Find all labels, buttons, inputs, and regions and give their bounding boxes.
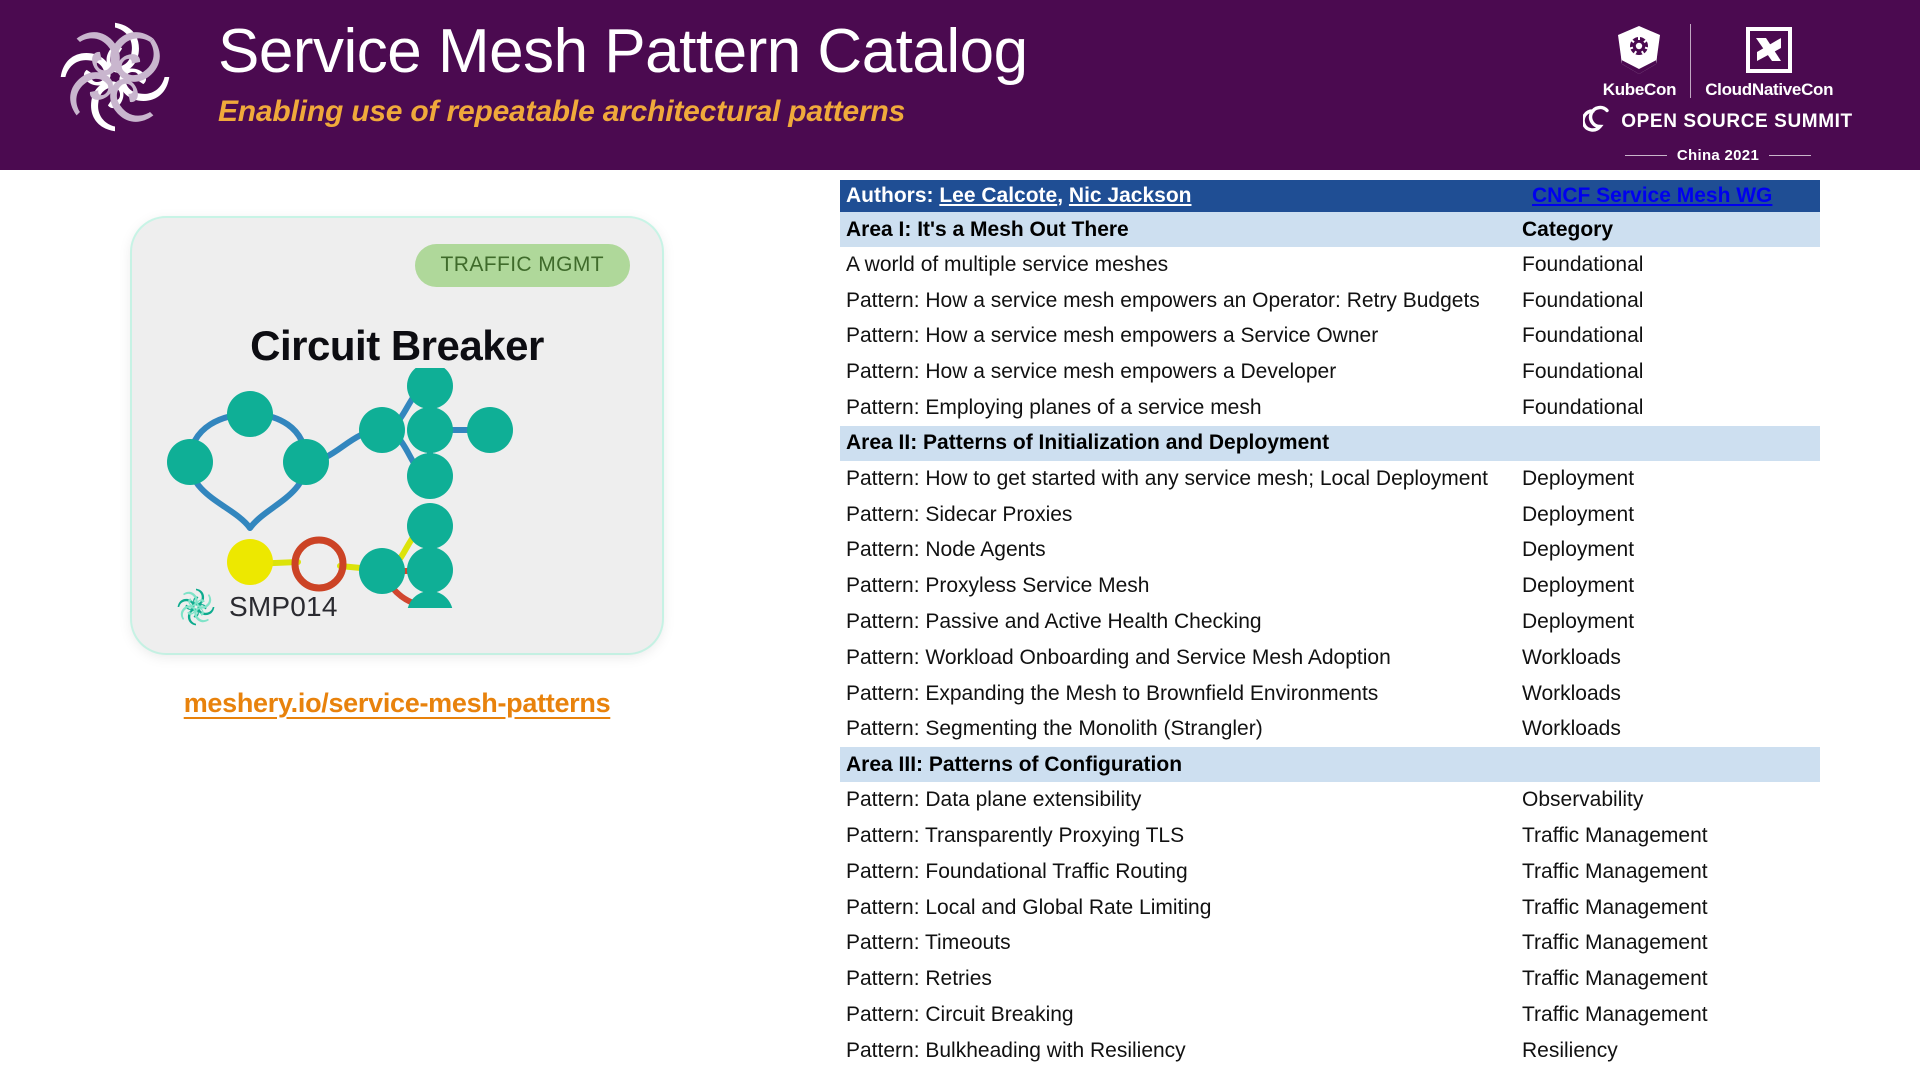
pattern-card-title: Circuit Breaker [132,322,662,370]
header-text-block: Service Mesh Pattern Catalog Enabling us… [218,12,1028,132]
authors-label: Authors: [846,184,934,207]
authors-separator: , [1057,184,1063,207]
meshery-patterns-link[interactable]: meshery.io/service-mesh-patterns [132,688,662,719]
table-row[interactable]: Pattern: Expanding the Mesh to Brownfiel… [840,676,1820,712]
pattern-category-cell: Workloads [1522,646,1820,670]
table-row[interactable]: Pattern: RetriesTraffic Management [840,961,1820,997]
year-rule-left [1625,155,1667,156]
circuit-breaker-ring [295,540,343,588]
pattern-name-cell: Pattern: Foundational Traffic Routing [840,860,1522,884]
page-subtitle: Enabling use of repeatable architectural… [218,92,1028,132]
table-row[interactable]: Pattern: How to get started with any ser… [840,461,1820,497]
table-row[interactable]: Pattern: Circuit BreakingTraffic Managem… [840,997,1820,1033]
pattern-name-cell: Pattern: Proxyless Service Mesh [840,574,1522,598]
pattern-category-cell: Deployment [1522,538,1820,562]
pattern-name-cell: Pattern: Node Agents [840,538,1522,562]
pattern-name-cell: Pattern: Data plane extensibility [840,788,1522,812]
table-row[interactable]: Pattern: Bulkheading with ResiliencyResi… [840,1033,1820,1069]
category-column-header: Category [1522,218,1820,242]
meshery-pinwheel-icon [176,587,216,627]
table-body: Area I: It's a Mesh Out ThereCategoryA w… [840,212,1820,1069]
pattern-category-cell: Traffic Management [1522,860,1820,884]
kubernetes-helm-icon [1612,25,1666,75]
pattern-category-cell: Observability [1522,788,1820,812]
conference-year: China 2021 [1568,147,1868,164]
pattern-name-cell: Pattern: Workload Onboarding and Service… [840,646,1522,670]
cloudnativecon-label: CloudNativeCon [1705,80,1833,100]
author-link-2[interactable]: Nic Jackson [1069,184,1192,207]
pattern-card[interactable]: TRAFFIC MGMT Circuit Breaker [132,218,662,653]
table-row[interactable]: Pattern: Passive and Active Health Check… [840,604,1820,640]
pattern-name-cell: Pattern: How a service mesh empowers a D… [840,360,1522,384]
table-row[interactable]: Pattern: Transparently Proxying TLSTraff… [840,818,1820,854]
pattern-name-cell: Pattern: Retries [840,967,1522,991]
table-row[interactable]: Pattern: Workload Onboarding and Service… [840,640,1820,676]
pattern-category-cell: Traffic Management [1522,931,1820,955]
pattern-code: SMP014 [229,591,338,623]
pattern-category-cell: Foundational [1522,253,1820,277]
author-link-1[interactable]: Lee Calcote [939,184,1057,207]
pattern-category-cell: Traffic Management [1522,1003,1820,1027]
year-rule-right [1769,155,1811,156]
table-row[interactable]: Pattern: Sidecar ProxiesDeployment [840,497,1820,533]
pattern-name-cell: Pattern: How a service mesh empowers a S… [840,324,1522,348]
page-content: TRAFFIC MGMT Circuit Breaker [0,170,1920,1080]
pattern-category-cell: Traffic Management [1522,824,1820,848]
category-badge: TRAFFIC MGMT [415,244,630,287]
page-header: Service Mesh Pattern Catalog Enabling us… [0,0,1920,170]
pattern-category-cell: Foundational [1522,396,1820,420]
pattern-catalog-table: Authors: Lee Calcote, Nic Jackson CNCF S… [840,180,1820,1069]
cloudnativecon-logo: CloudNativeCon [1691,25,1847,100]
pattern-name-cell: Pattern: Bulkheading with Resiliency [840,1039,1522,1063]
pattern-category-cell: Workloads [1522,717,1820,741]
pattern-category-cell: Foundational [1522,324,1820,348]
pattern-name-cell: Pattern: Sidecar Proxies [840,503,1522,527]
table-row[interactable]: Pattern: Local and Global Rate LimitingT… [840,890,1820,926]
table-row[interactable]: Pattern: How a service mesh empowers an … [840,283,1820,319]
open-source-summit-label: OPEN SOURCE SUMMIT [1621,111,1852,133]
table-section-header: Area II: Patterns of Initialization and … [840,426,1820,461]
open-source-summit-s-icon [1583,102,1617,141]
section-title: Area II: Patterns of Initialization and … [840,431,1522,455]
pattern-category-cell: Traffic Management [1522,967,1820,991]
tripped-node [227,539,273,585]
pattern-name-cell: Pattern: Employing planes of a service m… [840,396,1522,420]
conference-logos: KubeCon CloudNativeCon [1568,8,1868,158]
meshery-pinwheel-icon [56,18,174,136]
section-title: Area III: Patterns of Configuration [840,753,1522,777]
authors-cell: Authors: Lee Calcote, Nic Jackson [840,184,1522,208]
year-label: China 2021 [1677,147,1759,164]
pattern-category-cell: Traffic Management [1522,896,1820,920]
table-row[interactable]: Pattern: Foundational Traffic RoutingTra… [840,854,1820,890]
pattern-category-cell: Deployment [1522,503,1820,527]
page-title: Service Mesh Pattern Catalog [218,12,1028,92]
open-source-summit-logo: OPEN SOURCE SUMMIT [1568,102,1868,141]
pattern-category-cell: Foundational [1522,289,1820,313]
table-section-header: Area III: Patterns of Configuration [840,747,1820,782]
pattern-category-cell: Foundational [1522,360,1820,384]
pattern-name-cell: Pattern: How a service mesh empowers an … [840,289,1522,313]
pattern-name-cell: Pattern: Circuit Breaking [840,1003,1522,1027]
cncf-square-icon [1746,25,1792,75]
pattern-name-cell: Pattern: Timeouts [840,931,1522,955]
cncf-service-mesh-wg-link[interactable]: CNCF Service Mesh WG [1532,184,1772,208]
pattern-category-cell: Workloads [1522,682,1820,706]
pattern-name-cell: Pattern: Passive and Active Health Check… [840,610,1522,634]
table-row[interactable]: Pattern: Segmenting the Monolith (Strang… [840,712,1820,748]
pattern-name-cell: A world of multiple service meshes [840,253,1522,277]
working-group-cell: CNCF Service Mesh WG [1522,184,1820,208]
pattern-name-cell: Pattern: Transparently Proxying TLS [840,824,1522,848]
table-row[interactable]: Pattern: Employing planes of a service m… [840,390,1820,426]
pattern-category-cell: Deployment [1522,610,1820,634]
service-mesh-graph-illustration [154,368,640,608]
pattern-category-cell: Resiliency [1522,1039,1820,1063]
section-title: Area I: It's a Mesh Out There [840,218,1522,242]
pattern-card-footer: SMP014 [176,587,338,627]
table-row[interactable]: Pattern: Proxyless Service MeshDeploymen… [840,568,1820,604]
table-row[interactable]: Pattern: How a service mesh empowers a D… [840,354,1820,390]
table-row[interactable]: Pattern: Node AgentsDeployment [840,533,1820,569]
pattern-category-cell: Deployment [1522,467,1820,491]
pattern-name-cell: Pattern: Local and Global Rate Limiting [840,896,1522,920]
table-row[interactable]: Pattern: TimeoutsTraffic Management [840,926,1820,962]
table-section-header: Area I: It's a Mesh Out ThereCategory [840,212,1820,247]
pattern-category-cell: Deployment [1522,574,1820,598]
pattern-name-cell: Pattern: How to get started with any ser… [840,467,1522,491]
kubecon-logo: KubeCon [1589,25,1690,100]
table-row[interactable]: A world of multiple service meshesFounda… [840,247,1820,283]
kubecon-label: KubeCon [1603,80,1676,100]
table-row[interactable]: Pattern: Data plane extensibilityObserva… [840,782,1820,818]
pattern-name-cell: Pattern: Segmenting the Monolith (Strang… [840,717,1522,741]
pattern-name-cell: Pattern: Expanding the Mesh to Brownfiel… [840,682,1522,706]
table-row[interactable]: Pattern: How a service mesh empowers a S… [840,319,1820,355]
table-authors-row: Authors: Lee Calcote, Nic Jackson CNCF S… [840,180,1820,212]
